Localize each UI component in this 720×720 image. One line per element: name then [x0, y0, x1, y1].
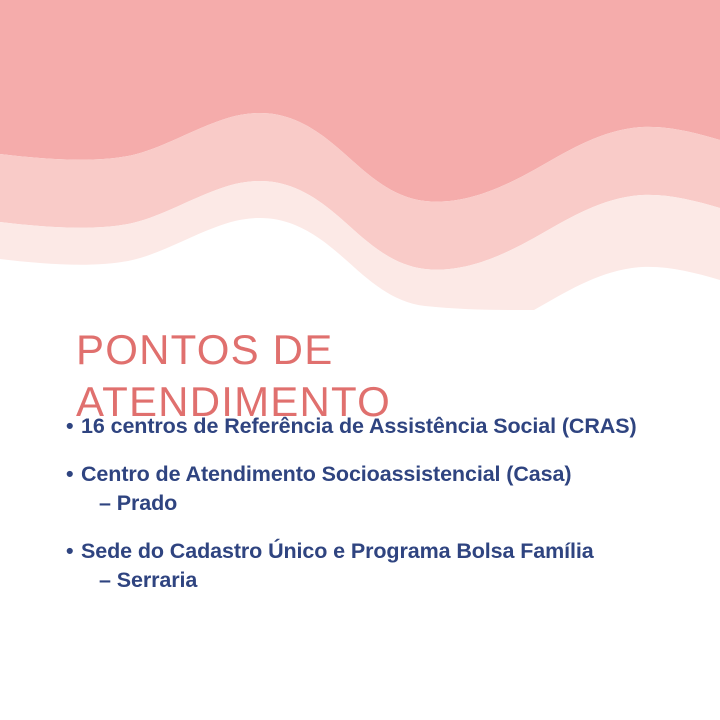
bullet-marker-icon: • [66, 460, 80, 489]
list-item: • Centro de Atendimento Socioassistencia… [66, 460, 666, 518]
list-item-body: Sede do Cadastro Único e Programa Bolsa … [66, 537, 666, 595]
list-item-text: Centro de Atendimento Socioassistencial … [81, 460, 666, 489]
list-item-subtext: – Serraria [81, 566, 666, 595]
decorative-wave-header [0, 0, 720, 310]
list-item-text: Sede do Cadastro Único e Programa Bolsa … [81, 537, 666, 566]
list-item-subtext: – Prado [81, 489, 666, 518]
list-item-text: 16 centros de Referência de Assistência … [81, 412, 666, 441]
list-item: • 16 centros de Referência de Assistênci… [66, 412, 666, 441]
service-points-list: • 16 centros de Referência de Assistênci… [66, 412, 666, 595]
list-item: • Sede do Cadastro Único e Programa Bols… [66, 537, 666, 595]
bullet-marker-icon: • [66, 537, 80, 566]
list-item-body: 16 centros de Referência de Assistência … [66, 412, 666, 441]
list-item-body: Centro de Atendimento Socioassistencial … [66, 460, 666, 518]
poster-canvas: PONTOS DE ATENDIMENTO • 16 centros de Re… [0, 0, 720, 720]
bullet-marker-icon: • [66, 412, 80, 441]
